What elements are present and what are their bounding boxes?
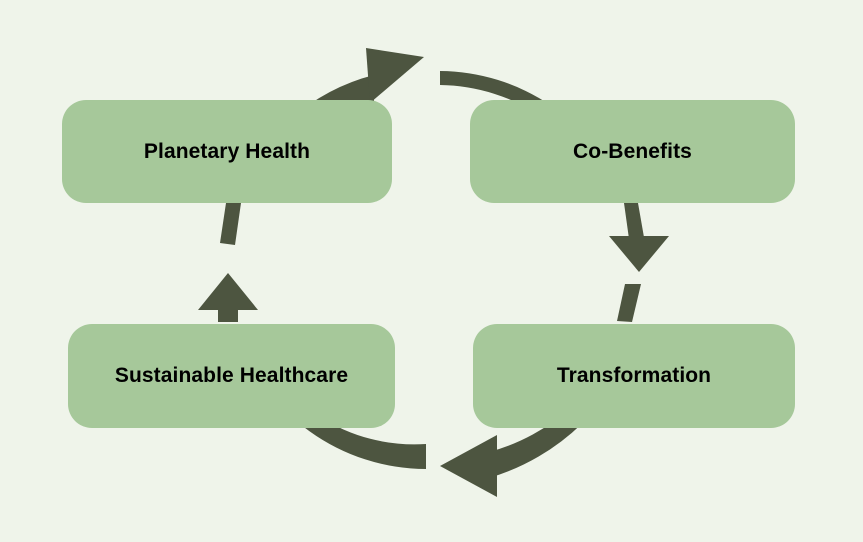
- node-sustainable-healthcare[interactable]: Sustainable Healthcare: [68, 324, 395, 428]
- cycle-diagram: Planetary Health Co-Benefits Transformat…: [0, 0, 863, 542]
- arrow-right-tail-lower: [617, 284, 641, 322]
- arrow-bottom-head-icon: [440, 435, 497, 497]
- node-sustainable-healthcare-label: Sustainable Healthcare: [115, 364, 348, 387]
- arrow-left-head-icon: [198, 273, 258, 310]
- node-co-benefits-label: Co-Benefits: [573, 140, 692, 163]
- arrow-right: [609, 203, 669, 322]
- arrow-right-head-icon: [609, 236, 669, 272]
- arrow-left: [198, 203, 258, 322]
- node-planetary-health-label: Planetary Health: [144, 140, 310, 163]
- node-planetary-health[interactable]: Planetary Health: [62, 100, 392, 203]
- node-transformation[interactable]: Transformation: [473, 324, 795, 428]
- cycle-arrows-group: [0, 0, 863, 542]
- node-co-benefits[interactable]: Co-Benefits: [470, 100, 795, 203]
- node-transformation-label: Transformation: [557, 364, 711, 387]
- arrow-left-tail-upper: [220, 203, 241, 245]
- arrow-top-head-icon: [366, 48, 424, 103]
- arrow-left-tail-lower: [218, 305, 238, 322]
